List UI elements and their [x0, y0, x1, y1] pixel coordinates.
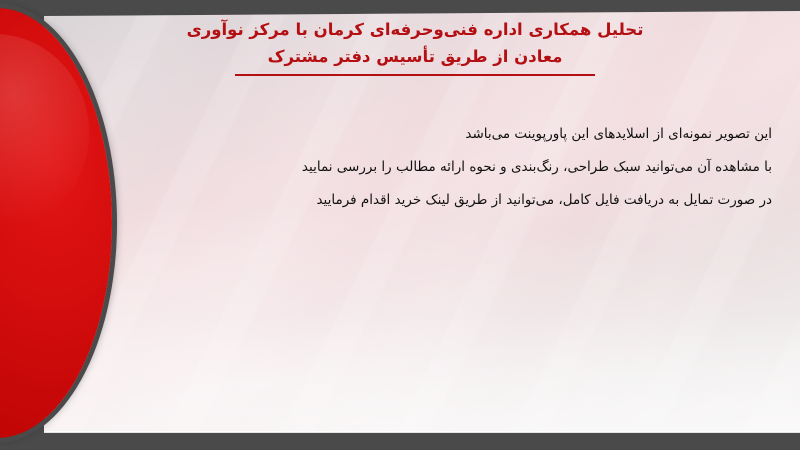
panel-highlight-glow	[44, 179, 800, 432]
title-line-1: تحلیل همکاری اداره فنی‌وحرفه‌ای کرمان با…	[60, 16, 770, 43]
body-line-2: با مشاهده آن می‌توانید سبک طراحی، رنگ‌بن…	[132, 151, 772, 184]
body-line-1: این تصویر نمونه‌ای از اسلایدهای این پاور…	[132, 118, 772, 151]
body-line-3: در صورت تمایل به دریافت فایل کامل، می‌تو…	[132, 184, 772, 217]
panel-bottom-fade	[44, 312, 800, 432]
slide-title: تحلیل همکاری اداره فنی‌وحرفه‌ای کرمان با…	[60, 16, 770, 76]
title-line-2: معادن از طریق تأسیس دفتر مشترک	[60, 43, 770, 70]
slide-body-text: این تصویر نمونه‌ای از اسلایدهای این پاور…	[132, 118, 772, 217]
presentation-slide: تحلیل همکاری اداره فنی‌وحرفه‌ای کرمان با…	[0, 0, 800, 450]
title-underline-rule	[235, 74, 595, 76]
footer-divider	[44, 431, 800, 433]
